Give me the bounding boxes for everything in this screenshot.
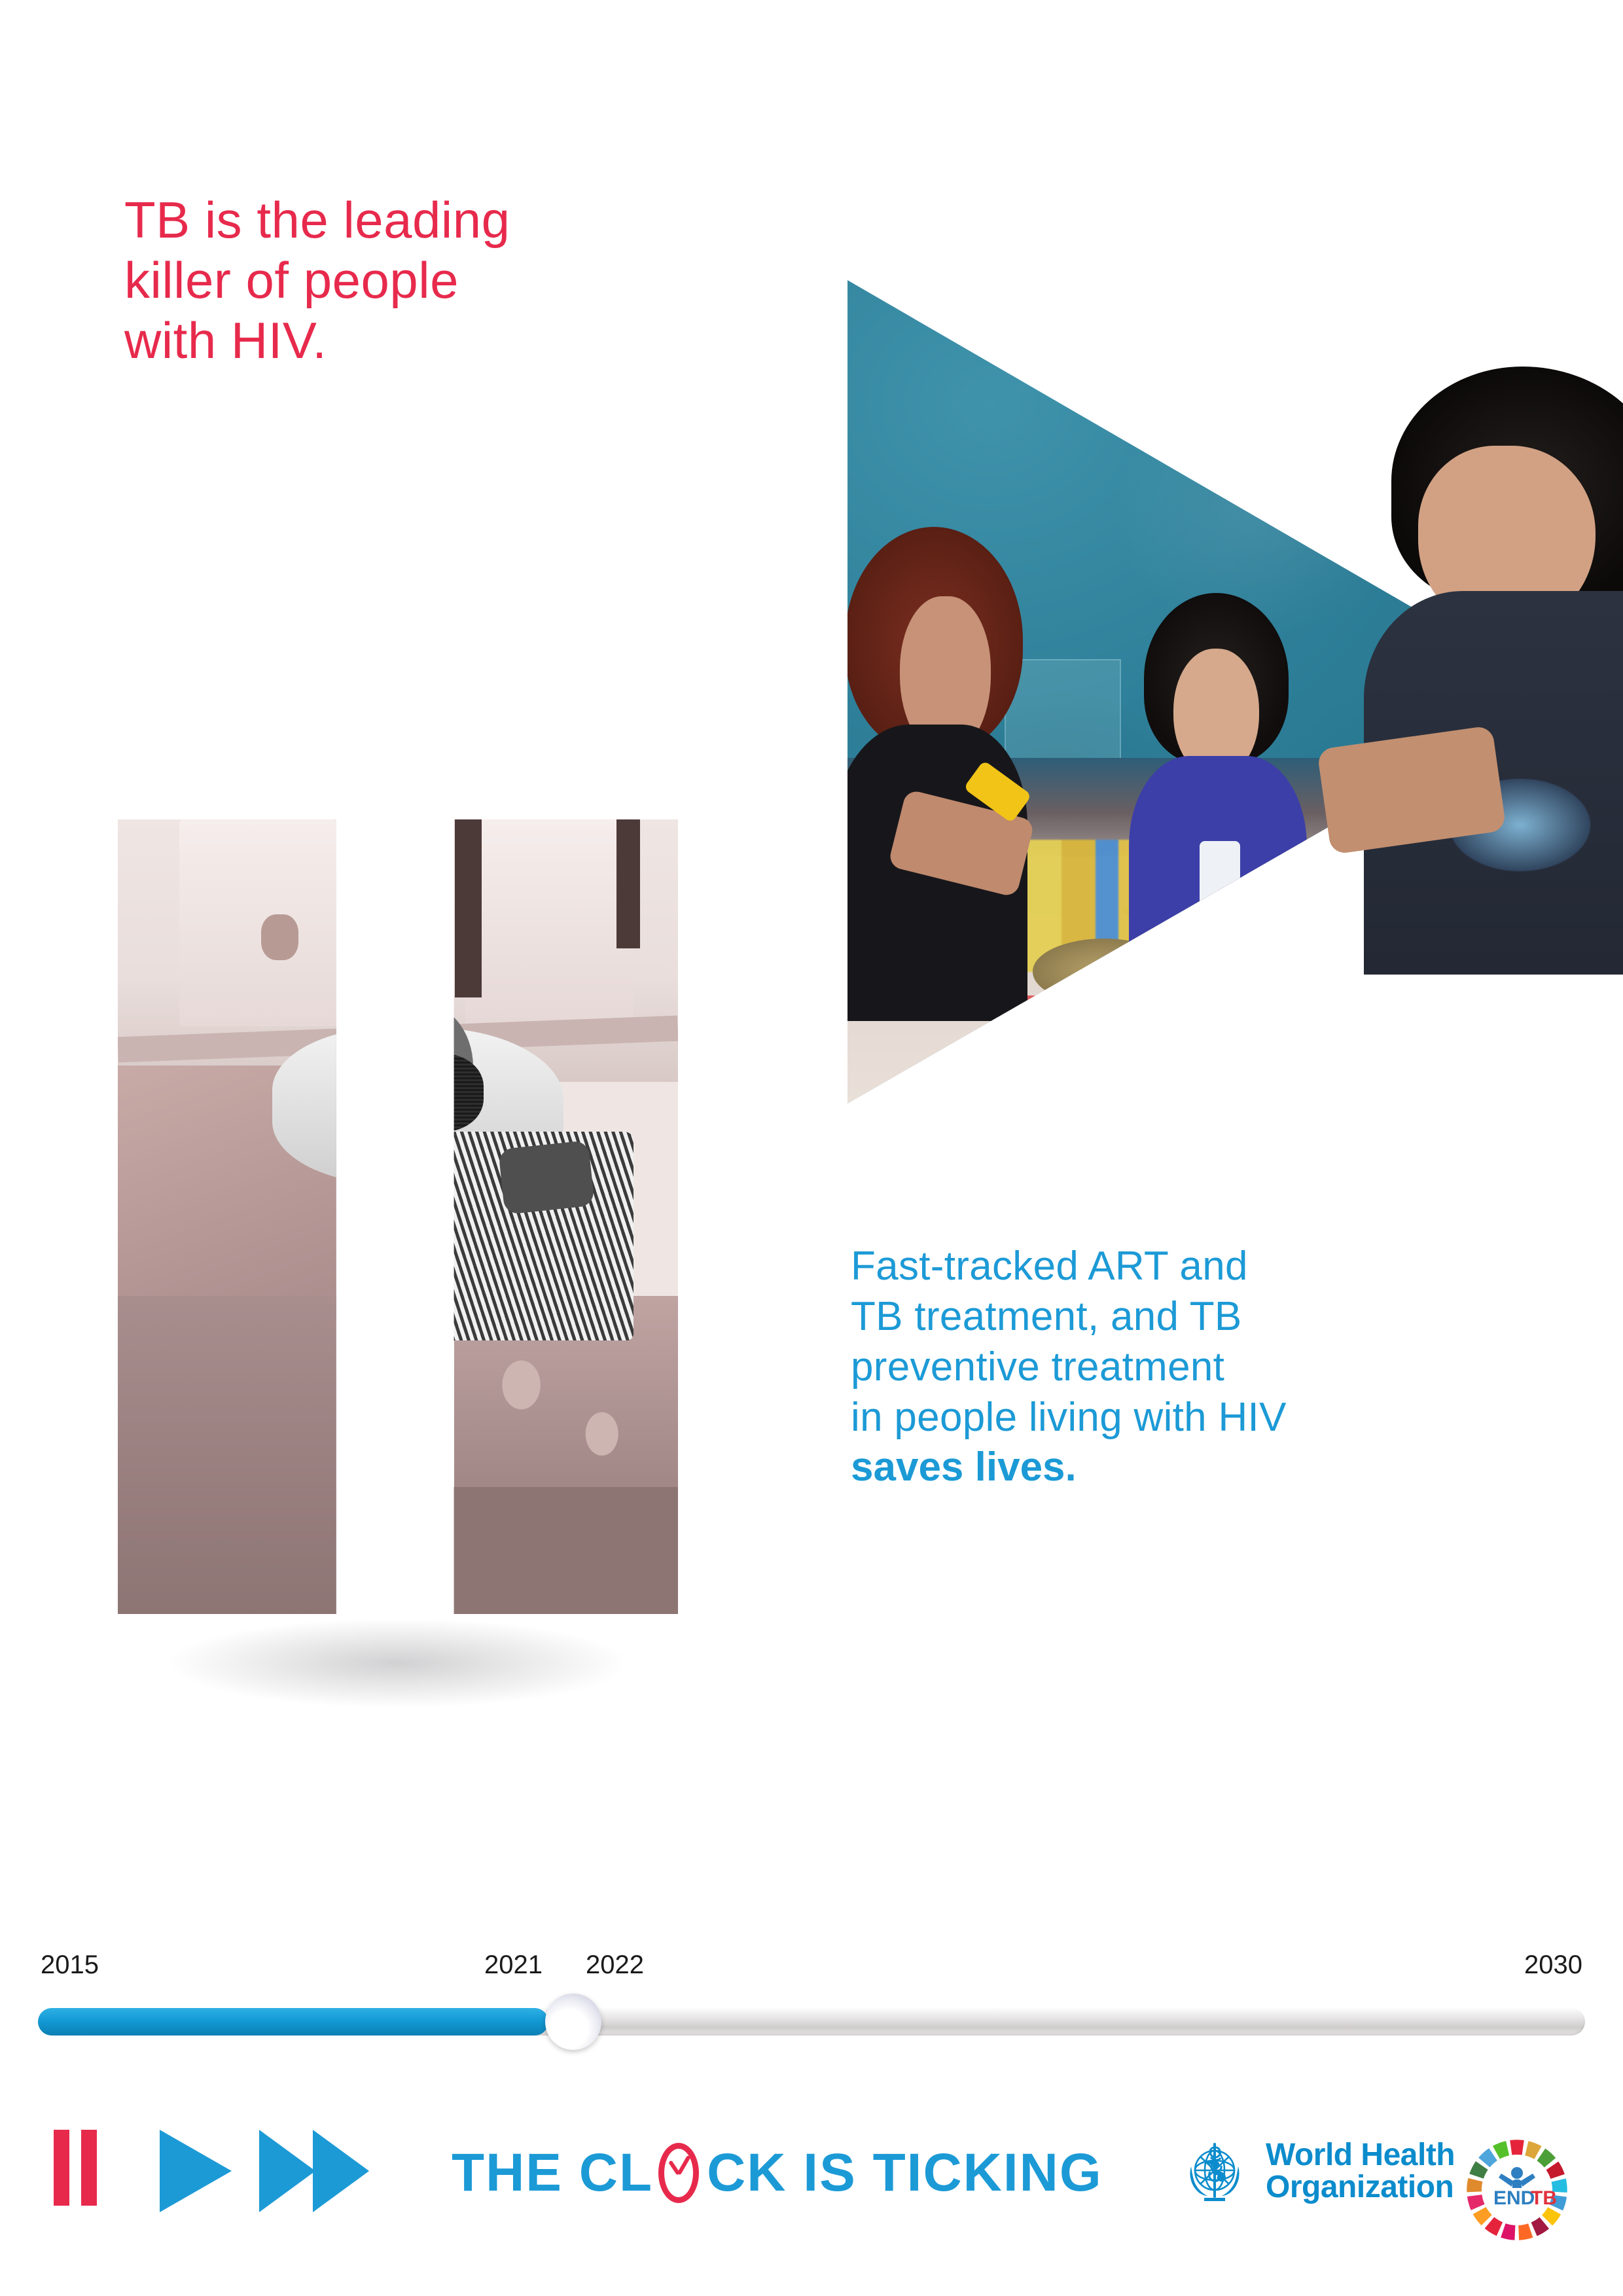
timeline-slider[interactable]: 2015 2021 2022 2030 [0, 1950, 1623, 2081]
page-headline: TB is the leading killer of people with … [124, 190, 622, 370]
tagline-part1: THE CL [452, 2146, 653, 2200]
end-tb-logo: END TB [1463, 2136, 1571, 2244]
body-copy-text: Fast-tracked ART and TB treatment, and T… [851, 1244, 1287, 1440]
timeline-label-next: 2022 [586, 1950, 644, 1980]
bottom-bar: THE CL CK IS TICKING [0, 2126, 1623, 2250]
younger-boy-shirt-print [1200, 841, 1240, 935]
pause-bar-left [54, 2130, 69, 2206]
younger-boy-figure [1133, 593, 1318, 1021]
timeline-label-start: 2015 [41, 1950, 99, 1980]
fast-forward-icon[interactable] [259, 2130, 370, 2212]
pause-bars-mask [118, 819, 678, 1614]
photo-drop-shadow [79, 1601, 717, 1725]
tagline-part2: CK IS TICKING [707, 2146, 1103, 2200]
timeline-track[interactable] [38, 2008, 1585, 2036]
pause-icon[interactable] [54, 2130, 97, 2206]
who-logo: World HealthOrganization [1178, 2135, 1455, 2208]
campaign-tagline: THE CL CK IS TICKING [452, 2142, 1103, 2204]
who-line1: World Health [1266, 2138, 1455, 2172]
woman-figure [847, 527, 1069, 1021]
pause-bar-right [81, 2130, 97, 2206]
who-wordmark: World HealthOrganization [1266, 2140, 1455, 2204]
clock-icon [656, 2142, 704, 2204]
who-emblem-icon [1178, 2135, 1251, 2208]
patient-face-mask [390, 1054, 484, 1132]
ffwd-triangle-2 [313, 2130, 369, 2212]
timeline-label-end: 2030 [1524, 1950, 1582, 1980]
timeline-knob[interactable] [545, 1994, 601, 2050]
sdg-color-wheel-icon: END TB [1463, 2136, 1571, 2244]
ffwd-triangle-1 [259, 2130, 315, 2212]
patient-arm [351, 1247, 442, 1590]
hospital-ward-scene [118, 819, 678, 1614]
play-triangle [160, 2130, 232, 2212]
patient-figure [286, 963, 633, 1614]
timeline-label-current: 2021 [484, 1950, 543, 1980]
endtb-tb-text: TB [1531, 2187, 1557, 2209]
tb-patient-photo [118, 819, 678, 1614]
play-icon[interactable] [160, 2130, 232, 2212]
body-copy-emphasis: saves lives. [851, 1443, 1505, 1493]
patient-hand-upper [498, 1140, 595, 1214]
endtb-end-text: END [1493, 2187, 1535, 2209]
who-line2: Organization [1266, 2170, 1454, 2204]
older-boy-figure [1378, 367, 1623, 1028]
timeline-labels: 2015 2021 2022 2030 [0, 1950, 1623, 1990]
patient-iv-tape [369, 1386, 425, 1431]
timeline-progress-fill [38, 2008, 548, 2036]
body-copy: Fast-tracked ART and TB treatment, and T… [851, 1191, 1505, 1543]
